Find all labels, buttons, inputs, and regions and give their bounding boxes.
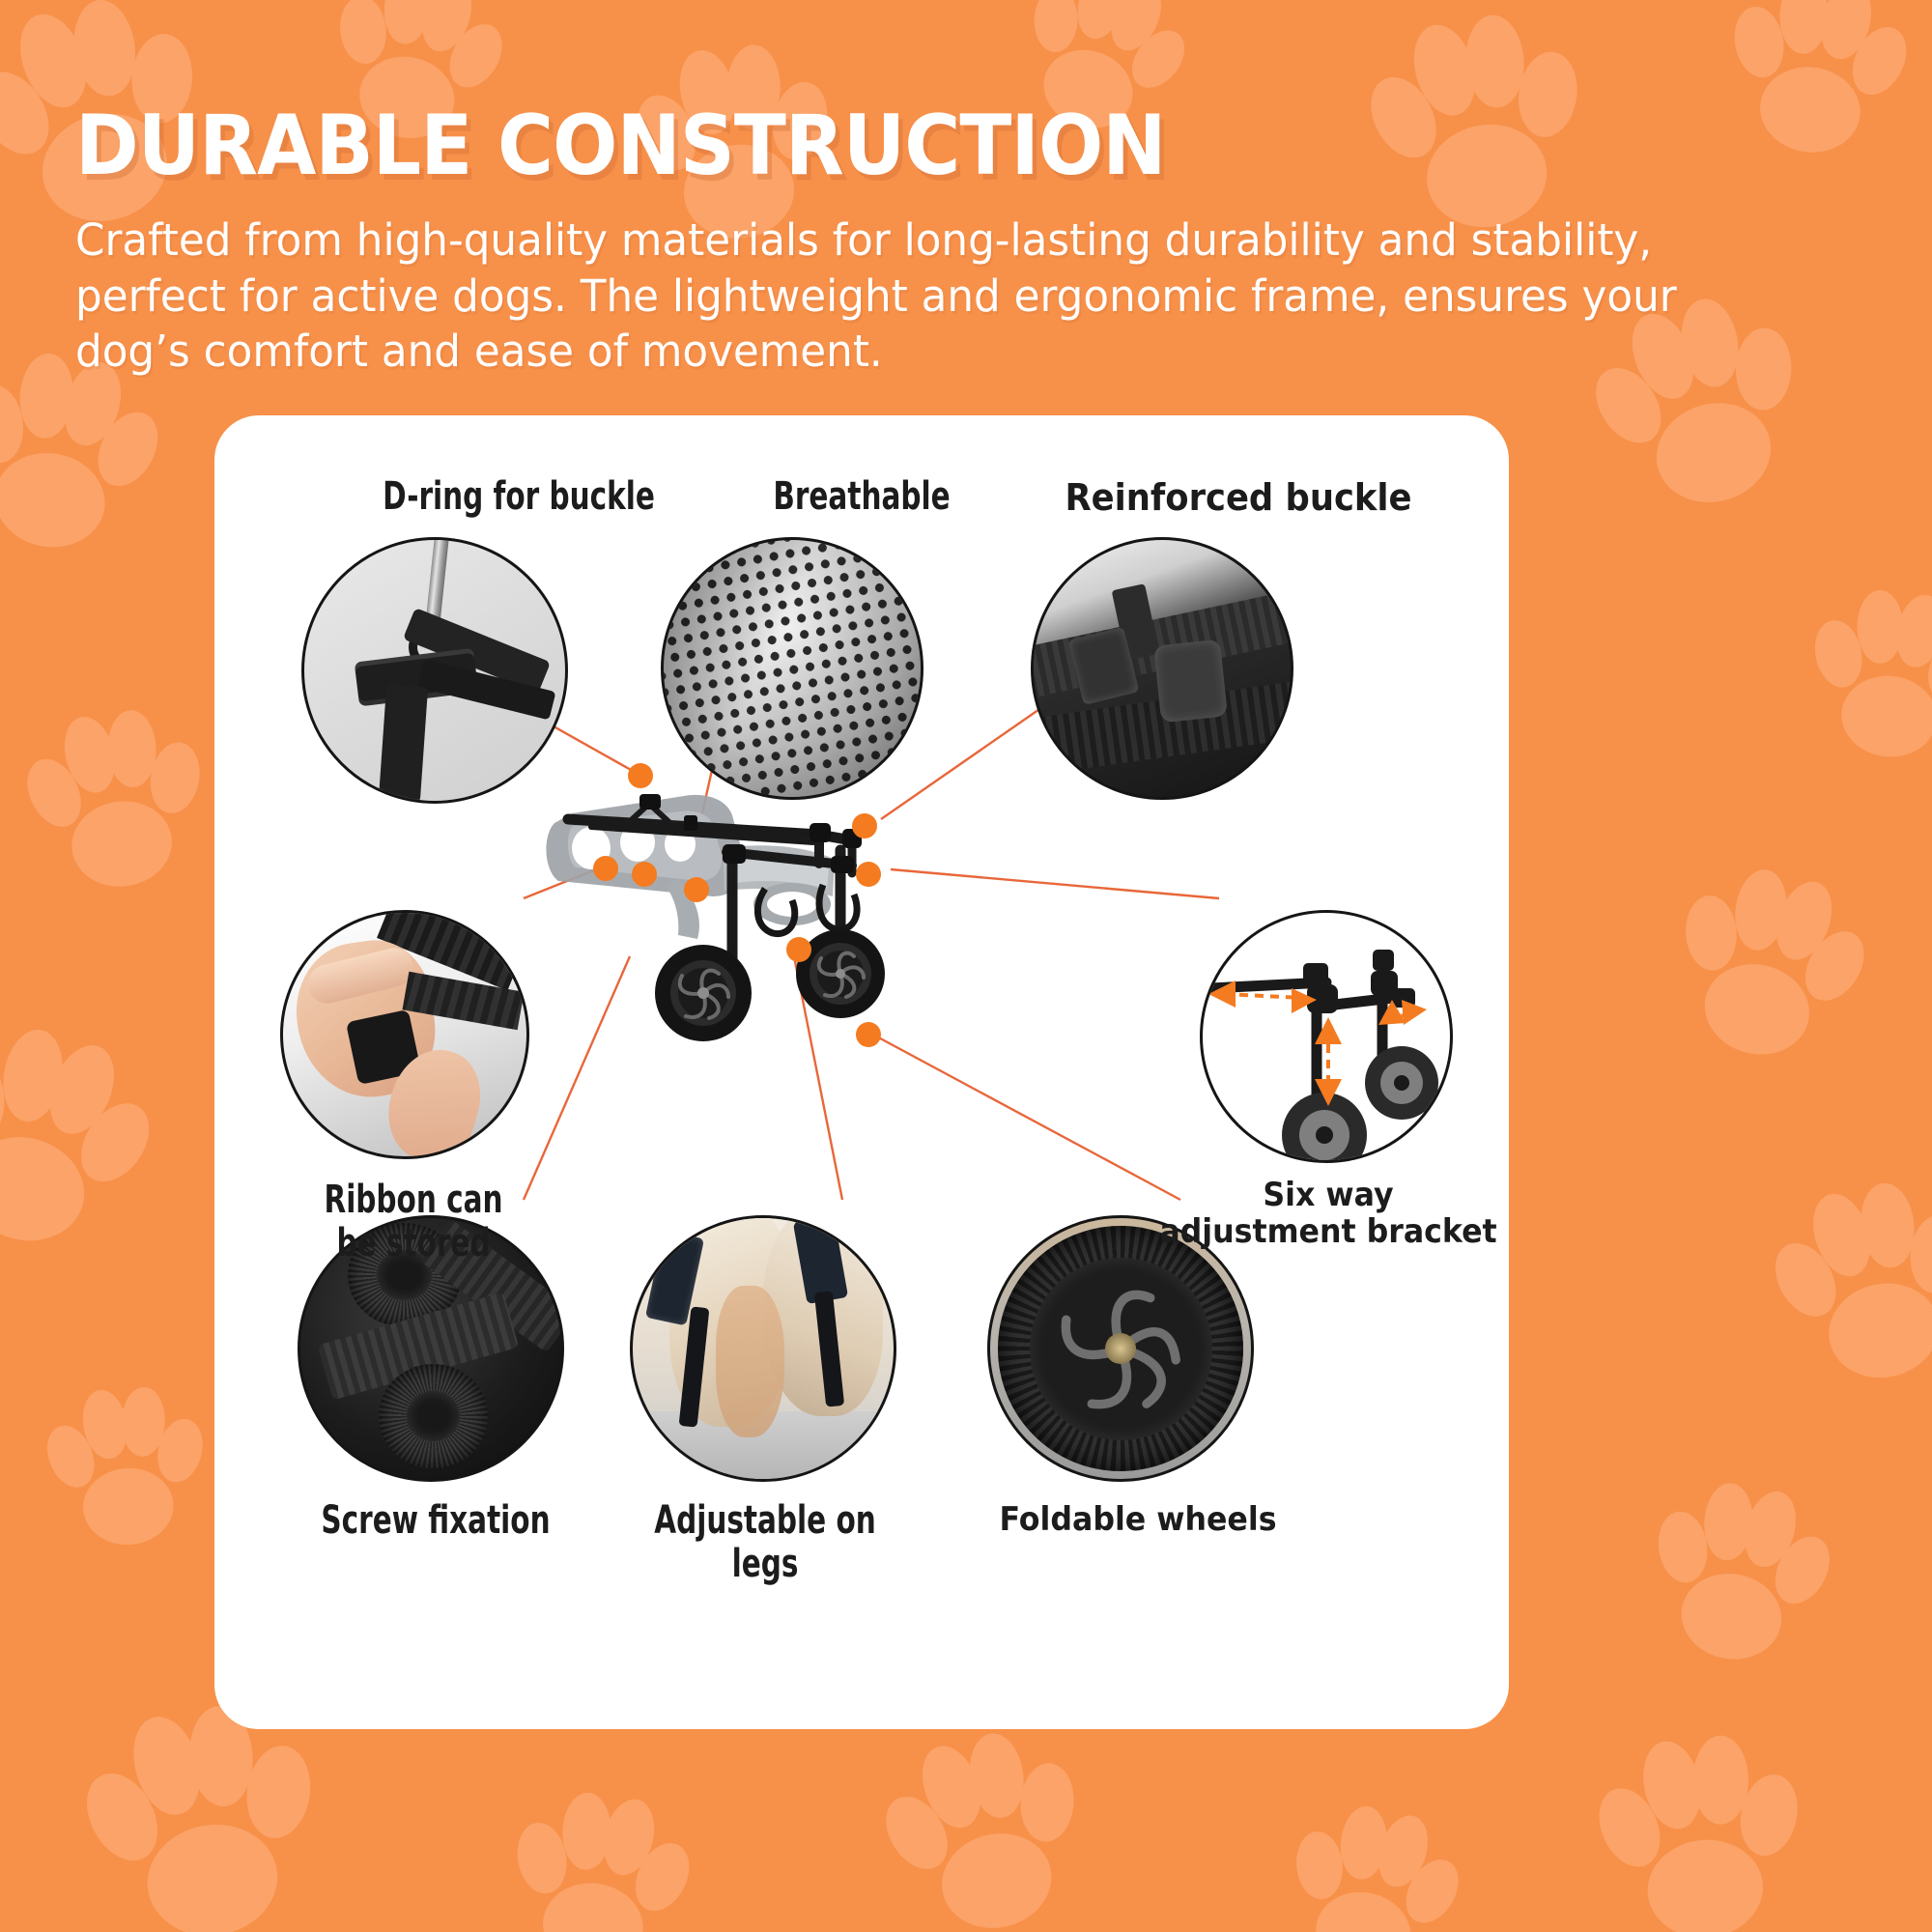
mesh-shading (664, 540, 921, 797)
hotspot-dot-six-way-bracket[interactable] (856, 862, 881, 887)
feature-label-ribbon-can-be-stored: Ribbon can be stored (295, 1179, 532, 1265)
hotspot-dot-reinforced-buckle[interactable] (852, 813, 877, 838)
bracket-diagram (1203, 913, 1453, 1163)
hotspot-dot-breathable[interactable] (632, 862, 657, 887)
page-subtitle: Crafted from high-quality materials for … (75, 213, 1790, 380)
feature-label-foldable-wheels: Foldable wheels (985, 1501, 1291, 1538)
screw-knob-shape (379, 1364, 488, 1468)
feature-label-adjustable-on-legs: Adjustable on legs (631, 1499, 900, 1586)
feature-inset-ribbon-can-be-stored (280, 910, 529, 1159)
hotspot-dot-foldable-wheels[interactable] (856, 1022, 881, 1047)
feature-card: D-ring for buckle Breathable Reinforced … (214, 415, 1509, 1729)
feature-inset-d-ring-for-buckle (301, 537, 568, 804)
hotspot-dot-d-ring[interactable] (628, 763, 653, 788)
feature-label-screw-fixation: Screw fixation (321, 1499, 551, 1543)
webbing-strap-shape (379, 685, 428, 803)
feature-inset-breathable (661, 537, 923, 800)
feature-label-breathable: Breathable (696, 475, 1028, 519)
dog-fur-shape (716, 1286, 783, 1437)
hotspot-dot-ribbon[interactable] (593, 856, 618, 881)
feature-inset-foldable-wheels (987, 1215, 1254, 1482)
feature-label-reinforced-buckle: Reinforced buckle (1040, 477, 1435, 519)
feature-inset-adjustable-on-legs (630, 1215, 896, 1482)
header: DURABLE CONSTRUCTION Crafted from high-q… (75, 104, 1853, 380)
buckle-part-shape (1153, 639, 1228, 724)
feature-inset-reinforced-buckle (1031, 537, 1293, 800)
hotspot-dot-screw-fixation[interactable] (684, 877, 709, 902)
feature-label-d-ring-for-buckle: D-ring for buckle (341, 475, 697, 519)
page-title: DURABLE CONSTRUCTION (75, 104, 1711, 187)
feature-label-six-way-adjustment-bracket: Six way adjustment bracket (1155, 1177, 1502, 1250)
feature-inset-six-way-adjustment-bracket (1200, 910, 1453, 1163)
hotspot-dot-adjustable-on-legs[interactable] (786, 937, 811, 962)
